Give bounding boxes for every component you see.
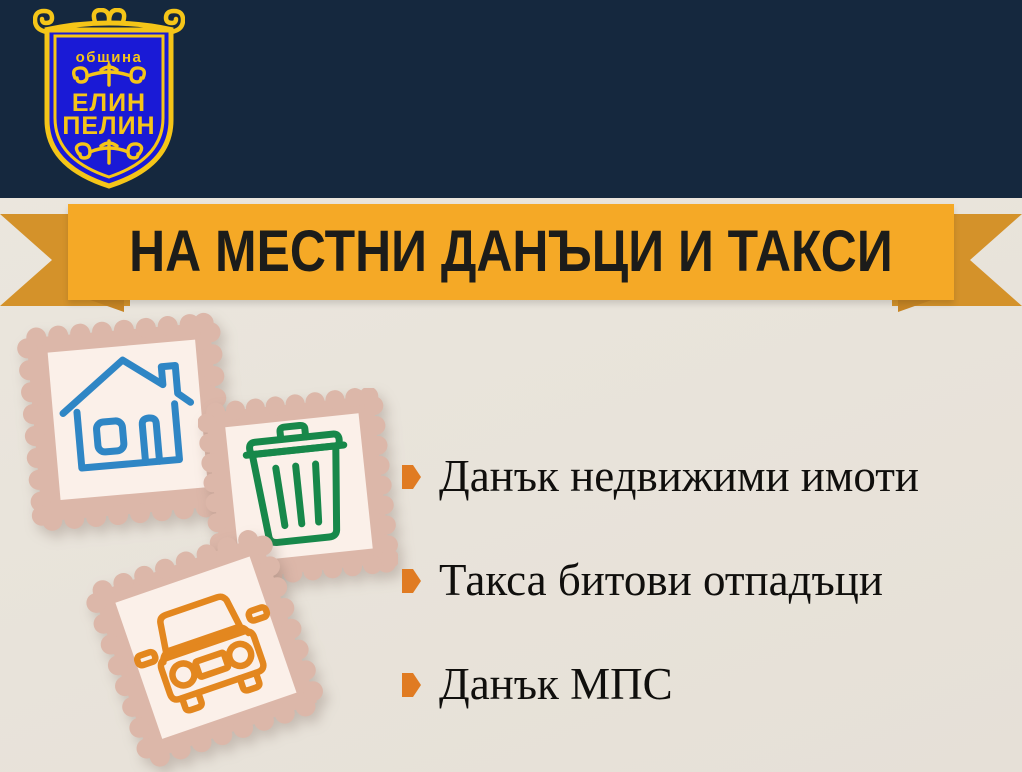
stamp-card-car (85, 528, 325, 768)
ribbon-banner: НА МЕСТНИ ДАНЪЦИ И ТАКСИ (0, 196, 1022, 311)
arrow-bullet-icon (402, 569, 421, 593)
ribbon-subtitle: НА МЕСТНИ ДАНЪЦИ И ТАКСИ (129, 223, 893, 281)
coat-of-arms-icon: община ЕЛИН ПЕЛИН (33, 8, 185, 190)
stamp-body-car (85, 528, 325, 768)
list-item[interactable]: Данък недвижими имоти (402, 424, 1012, 528)
list-item-label: Данък МПС (439, 662, 673, 707)
logo-line-3: ПЕЛИН (62, 112, 155, 140)
list-item-label: Данък недвижими имоти (439, 454, 919, 499)
ribbon-main-panel: НА МЕСТНИ ДАНЪЦИ И ТАКСИ (68, 204, 954, 300)
arrow-bullet-icon (402, 465, 421, 489)
list-item-label: Такса битови отпадъци (439, 558, 883, 603)
poster-canvas: ПРОВЕРКА И ПЛАЩАНЕ НА ЗАДЪЛЖЕНИЯ община (0, 0, 1022, 772)
municipality-logo: община ЕЛИН ПЕЛИН (33, 8, 185, 190)
tax-types-list: Данък недвижими имоти Такса битови отпад… (402, 424, 1012, 736)
list-item[interactable]: Такса битови отпадъци (402, 528, 1012, 632)
list-item[interactable]: Данък МПС (402, 632, 1012, 736)
arrow-bullet-icon (402, 673, 421, 697)
